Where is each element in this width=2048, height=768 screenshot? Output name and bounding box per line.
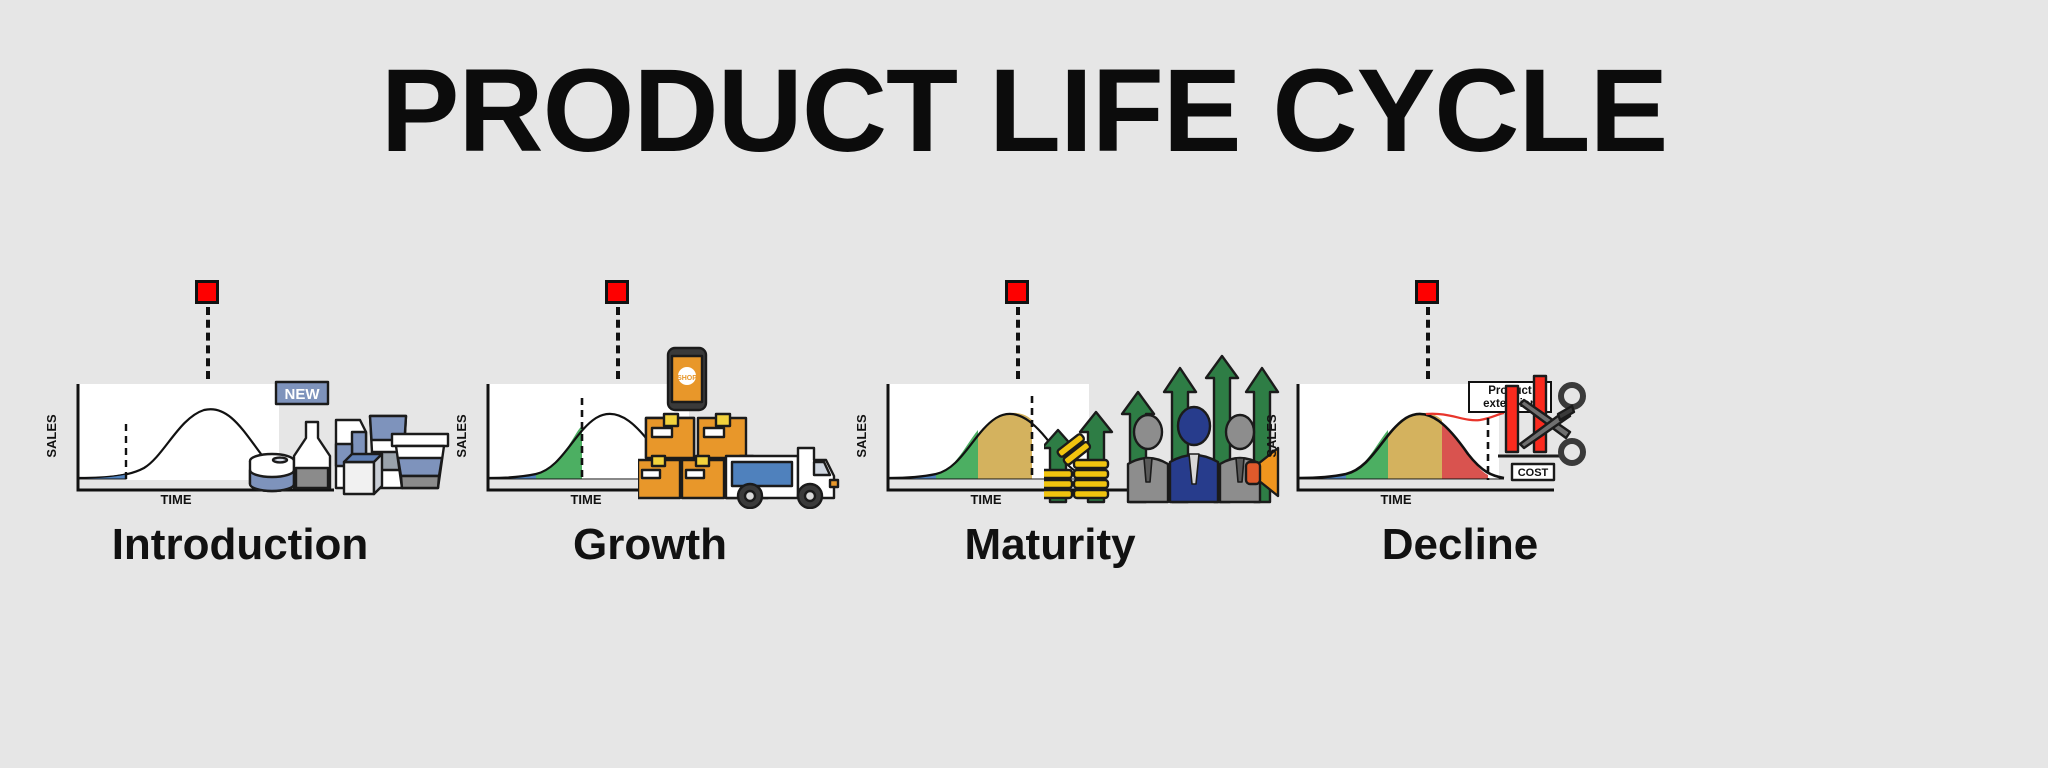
stage-label-decline: Decline <box>1240 520 1680 570</box>
x-axis-label: TIME <box>160 492 191 505</box>
red-flag-icon <box>195 280 219 304</box>
stage-label-maturity: Maturity <box>830 520 1270 570</box>
y-axis-label: SALES <box>1264 414 1279 458</box>
stage-decline: SALES TIME Product extension <box>1240 280 1680 750</box>
y-axis-label: SALES <box>854 414 869 458</box>
red-flag-icon <box>1415 280 1439 304</box>
stage-label-growth: Growth <box>430 520 870 570</box>
marker-stem <box>616 307 620 379</box>
y-axis-label: SALES <box>44 414 59 458</box>
marker-stem <box>1016 307 1020 379</box>
x-axis-label: TIME <box>1380 492 1411 505</box>
x-axis-label: TIME <box>970 492 1001 505</box>
svg-text:SHOP: SHOP <box>677 375 697 382</box>
product-life-cycle-infographic: PRODUCT LIFE CYCLE SALES TIME NEW <box>0 0 2048 768</box>
cost-cutting-illustration: COST <box>1498 370 1728 495</box>
x-axis-label: TIME <box>570 492 601 505</box>
marker-stem <box>1426 307 1430 379</box>
stage-label-introduction: Introduction <box>20 520 460 570</box>
y-axis-label: SALES <box>454 414 469 458</box>
svg-text:NEW: NEW <box>285 386 321 403</box>
red-flag-icon <box>605 280 629 304</box>
page-title: PRODUCT LIFE CYCLE <box>0 52 2048 170</box>
stage-maturity: SALES TIME <box>830 280 1270 750</box>
marker-stem <box>206 307 210 379</box>
stage-introduction: SALES TIME NEW <box>20 280 460 750</box>
cost-label: COST <box>1518 467 1549 479</box>
red-flag-icon <box>1005 280 1029 304</box>
stage-growth: SALES TIME SHOP <box>430 280 870 750</box>
